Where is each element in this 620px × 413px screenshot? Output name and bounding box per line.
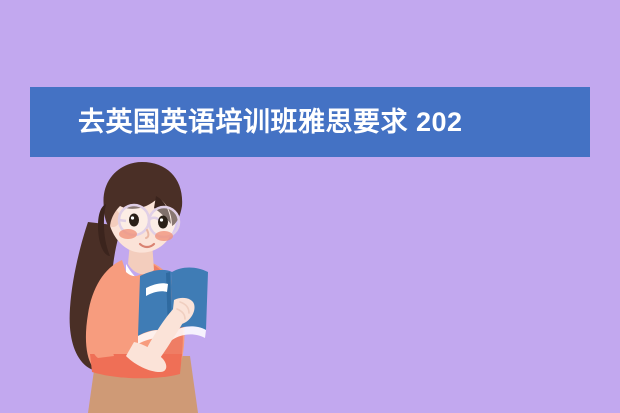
title-bar: 去英国英语培训班雅思要求 202	[30, 87, 590, 157]
glasses-temple-arm	[119, 220, 126, 221]
right-eye	[158, 216, 168, 229]
left-eye-highlight	[131, 216, 134, 219]
woman-reading-book-illustration	[30, 160, 260, 413]
right-cheek-blush	[155, 231, 173, 241]
right-eye-highlight	[160, 218, 163, 221]
left-cheek-blush	[119, 229, 137, 239]
banner-canvas: 去英国英语培训班雅思要求 202	[0, 0, 620, 413]
page-title: 去英国英语培训班雅思要求 202	[78, 109, 463, 136]
left-eye	[129, 214, 139, 227]
